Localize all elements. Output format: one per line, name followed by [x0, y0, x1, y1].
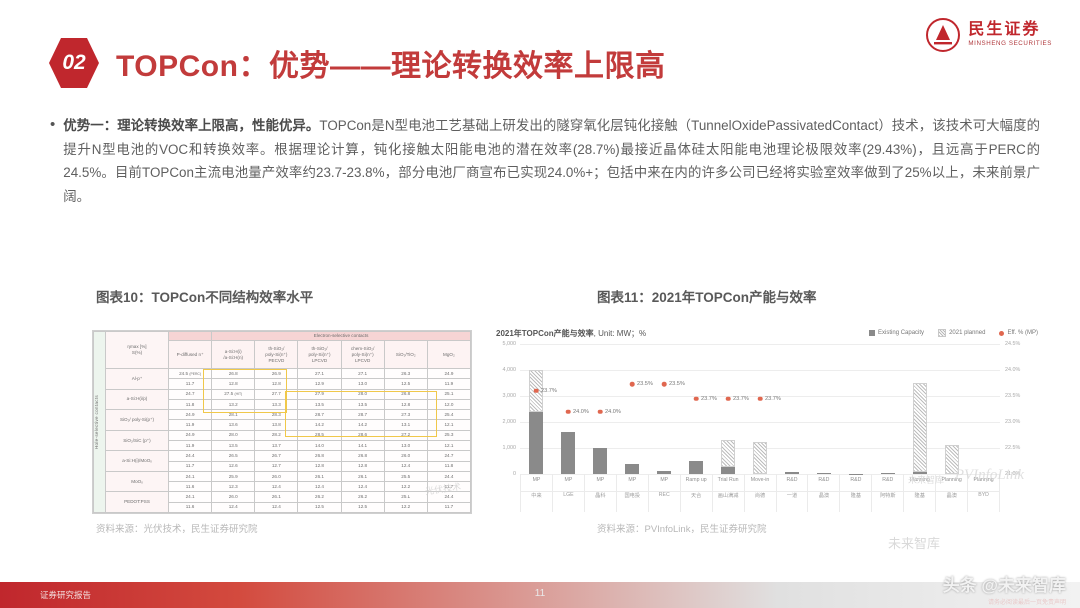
chart-ytick-right: 23.0%: [1005, 419, 1020, 425]
table-cell-s: 11.8: [169, 399, 212, 409]
table-cell-s: 12.8: [298, 461, 341, 471]
page-title: TOPCon：优势——理论转换效率上限高: [116, 41, 665, 85]
table-cell-s: 13.1: [384, 420, 427, 430]
table-cell-s: 11.7: [169, 379, 212, 389]
chart-x-company: 画山满减: [718, 492, 739, 499]
efficiency-table: Hole-selective contactsηmax [%]S(%)Elect…: [93, 331, 471, 513]
table-cell-s: 13.2: [212, 399, 255, 409]
table-cell-s: 11.8: [427, 461, 470, 471]
legend-label-eff: Eff. % (MP): [1007, 330, 1038, 336]
table-cell-eff: 28.0: [212, 430, 255, 440]
chart-eff-label: 23.5%: [669, 381, 685, 387]
table-cell-eff: 26.0: [384, 451, 427, 461]
chart-x-company: 中来: [531, 492, 541, 499]
table-cell-s: 14.2: [298, 420, 341, 430]
legend-swatch-existing-icon: [869, 330, 875, 336]
table-cell-s: 12.6: [212, 461, 255, 471]
table-cell-eff: 25.1: [427, 389, 470, 399]
table-cell-eff: 26.1: [341, 471, 384, 481]
table-cell-s: 12.0: [427, 399, 470, 409]
table-col-header: MgO₂: [427, 341, 470, 369]
table-cell-s: 12.8: [341, 461, 384, 471]
table-cell-eff: 26.9: [255, 369, 298, 379]
table-cell-eff: 27.1: [298, 369, 341, 379]
table-cell-eff: 25.L: [384, 492, 427, 502]
chart-x-status: R&D: [850, 477, 861, 483]
chart-eff-label: 23.7%: [765, 396, 781, 402]
chart-plot-area: 01,0002,0003,0004,0005,00021.0%22.5%23.0…: [520, 344, 1000, 474]
table-cell-eff: 24.7: [427, 451, 470, 461]
table-cell-eff: 28.7: [298, 410, 341, 420]
chart-eff-label: 24.0%: [573, 409, 589, 415]
table-cell-eff: 27.1: [341, 369, 384, 379]
table-cell-eff: 24.1: [169, 471, 212, 481]
table-cell-eff: 26.8: [212, 369, 255, 379]
table-cell-eff: 26.1: [298, 471, 341, 481]
chart-x-company: 隆基: [915, 492, 925, 499]
slide-page: 民生证券 MINSHENG SECURITIES 02 TOPCon：优势——理…: [0, 0, 1080, 608]
chart-x-category: Move-in尚德: [744, 474, 776, 512]
table-cell-s: 14.1: [341, 440, 384, 450]
chart-x-status: MP: [596, 477, 604, 483]
chart-eff-dot: [534, 389, 539, 394]
table-row: Al-p⁺24.5 (PERC)26.826.927.127.126.324.9: [94, 369, 471, 379]
chart-bar-existing: [529, 412, 542, 474]
legend-swatch-eff-icon: [999, 331, 1004, 336]
table-row: SiO₂/ poly-Si(p⁺)24.928.128.328.728.727.…: [94, 410, 471, 420]
chart-x-company: 隆基: [851, 492, 861, 499]
table-cell-s: 12.2: [384, 502, 427, 512]
chart-bar-planned: [753, 442, 766, 474]
table-cell-s: 12.4: [255, 502, 298, 512]
chart-x-status: Move-in: [751, 477, 769, 483]
table-row-label: a-Si:H(i/p): [106, 389, 169, 410]
legend-item-existing: Existing Capacity: [869, 330, 924, 336]
chart-x-company: 晶科: [595, 492, 605, 499]
legend-label-planned: 2021 planned: [949, 330, 985, 336]
chart-eff-dot: [566, 409, 571, 414]
figure11-watermark: PVInfoLink: [955, 467, 1024, 484]
legend-swatch-planned-icon: [938, 329, 946, 337]
chart-ytick: 1,000: [503, 445, 517, 451]
figure10-caption: 图表10：TOPCon不同结构效率水平: [96, 286, 313, 306]
table-cell-eff: 24.9: [169, 410, 212, 420]
chart-bar-planned: [721, 440, 734, 467]
chart-bar-planned: [913, 383, 926, 473]
legend-item-eff: Eff. % (MP): [999, 330, 1038, 336]
chart-unit-label: Unit: MW；%: [598, 329, 646, 338]
table-cell-s: 12.7: [255, 461, 298, 471]
table-cell-eff: 26.8: [341, 451, 384, 461]
table-cell-eff: 24.9: [427, 369, 470, 379]
table-col-header: th-SiO₂/poly-Si(n⁺)LPCVD: [298, 341, 341, 369]
table-cell-s: 12.2: [384, 482, 427, 492]
table-cell-s: 12.4: [212, 502, 255, 512]
chart-x-category: R&D隆基: [839, 474, 871, 512]
company-logo: 民生证券 MINSHENG SECURITIES: [926, 18, 1052, 52]
section-number-badge: 02: [48, 36, 100, 90]
chart-ytick: 0: [513, 471, 516, 477]
chart-x-company: 一道: [787, 492, 797, 499]
section-number: 02: [62, 51, 85, 75]
chart-bar-existing: [561, 432, 574, 474]
chart-eff-dot: [726, 396, 731, 401]
table-cell-eff: 26.1: [255, 492, 298, 502]
table-cell-s: 13.7: [255, 440, 298, 450]
body-paragraph: 优势一：理论转换效率上限高，性能优异。TOPCon是N型电池工艺基础上研发出的隧…: [63, 114, 1040, 208]
chart-x-status: MP: [628, 477, 636, 483]
table-cell-s: 12.1: [427, 440, 470, 450]
chart-x-company: 晶澳: [819, 492, 829, 499]
table-cell-eff: 24.5 (PERC): [169, 369, 212, 379]
footer-report-label: 证券研究报告: [40, 589, 91, 601]
table-cell-eff: 26.2: [298, 492, 341, 502]
table-row-label: PEDOT:PSS: [106, 492, 169, 513]
paragraph-lead: 优势一：理论转换效率上限高，性能优异。: [63, 118, 319, 133]
chart-x-status: R&D: [786, 477, 797, 483]
table-cell-s: 12.1: [427, 420, 470, 430]
table-cell-eff: 24.4: [169, 451, 212, 461]
logo-text-cn: 民生证券: [968, 22, 1052, 38]
table-cell-s: 11.7: [169, 461, 212, 471]
body-bullet: • 优势一：理论转换效率上限高，性能优异。TOPCon是N型电池工艺基础上研发出…: [50, 114, 1040, 208]
table-cell-eff: 28.5: [298, 430, 341, 440]
table-cell-eff: 24.7: [169, 389, 212, 399]
table-col-header: chem-SiO₂/poly-Si(n⁺)LPCVD: [341, 341, 384, 369]
chart-x-company: 天合: [691, 492, 701, 499]
table-row-label: Al-p⁺: [106, 369, 169, 390]
page-footer: 证券研究报告 11: [0, 582, 1080, 608]
table-cell-s: 12.8: [212, 379, 255, 389]
table-cell-s: 12.5: [298, 502, 341, 512]
chart-x-status: Trial Run: [718, 477, 739, 483]
table-cell-eff: 27.9: [298, 389, 341, 399]
table-col-header: a-Si:H(i)/a-Si:H(n): [212, 341, 255, 369]
chart-x-category: MP中来: [520, 474, 552, 512]
table-cell-s: 12.4: [298, 482, 341, 492]
table-cell-s: 14.2: [341, 420, 384, 430]
chart-x-category: MP国电投: [616, 474, 648, 512]
table-cell-eff: 26.3: [384, 369, 427, 379]
toutiao-title: 头条 @未来智库: [943, 571, 1066, 596]
table-band-header: [169, 332, 212, 341]
table-col-header: th-SiO₂/poly-Si(n⁺)PECVD: [255, 341, 298, 369]
table-row-label: MoOₓ: [106, 471, 169, 492]
logo-text-en: MINSHENG SECURITIES: [968, 41, 1052, 47]
chart-eff-dot: [694, 396, 699, 401]
table-cell-s: 12.9: [298, 379, 341, 389]
chart-x-status: MP: [660, 477, 668, 483]
chart-x-company: 国电投: [624, 492, 640, 499]
chart-title-text: 2021年TOPCon产能与效率: [496, 329, 594, 338]
chart-x-status: MP: [565, 477, 573, 483]
table-cell-eff: 28.1: [212, 410, 255, 420]
table-cell-s: 12.4: [384, 461, 427, 471]
chart-eff-label: 23.5%: [637, 381, 653, 387]
chart-x-category: MPREC: [648, 474, 680, 512]
table-cell-eff: 27.7: [255, 389, 298, 399]
table-cell-s: 11.7: [427, 502, 470, 512]
chart-bar-existing: [721, 467, 734, 474]
chart-title: 2021年TOPCon产能与效率, Unit: MW；%: [496, 328, 646, 339]
table-cell-s: 13.3: [255, 399, 298, 409]
chart-x-category: R&D晶澳: [807, 474, 839, 512]
chart-x-company: 尚德: [755, 492, 765, 499]
chart-x-status: MP: [533, 477, 541, 483]
table-cell-s: 12.8: [255, 379, 298, 389]
table-cell-s: 13.6: [212, 420, 255, 430]
chart-eff-label: 24.0%: [605, 409, 621, 415]
chart-eff-dot: [662, 382, 667, 387]
chart-eff-label: 23.7%: [541, 388, 557, 394]
table-row: PEDOT:PSS24.126.026.126.226.225.L24.4: [94, 492, 471, 502]
chart-x-company: BYD: [978, 492, 989, 498]
table-row: MoOₓ24.125.926.026.126.125.524.4: [94, 471, 471, 481]
table-cell-eff: 26.7: [255, 451, 298, 461]
table-cell-eff: 26.2: [341, 492, 384, 502]
chart-ytick: 4,000: [503, 367, 517, 373]
table-row-label: a-Si:H(i)/MoOₓ: [106, 451, 169, 472]
legend-label-existing: Existing Capacity: [878, 330, 924, 336]
table-cell-eff: 25.4: [427, 410, 470, 420]
table-cell-eff: 28.2: [255, 430, 298, 440]
table-cell-s: 11.9: [427, 379, 470, 389]
chart-legend: Existing Capacity 2021 planned Eff. % (M…: [869, 329, 1038, 337]
table-cell-eff: 27.5 (HIT): [212, 389, 255, 399]
table-cell-s: 12.5: [341, 502, 384, 512]
chart-eff-dot: [758, 396, 763, 401]
table-cell-eff: 26.0: [212, 492, 255, 502]
page-watermark: 未来智库: [888, 533, 940, 552]
chart-ytick-right: 24.0%: [1005, 367, 1020, 373]
table-cell-s: 11.9: [169, 420, 212, 430]
table-cell-eff: 24.9: [169, 430, 212, 440]
toutiao-watermark: 头条 @未来智库 请务必阅读最后一页免责声明: [943, 571, 1066, 606]
table-row: a-Si:H(i)/MoOₓ24.426.526.726.826.826.024…: [94, 451, 471, 461]
table-row-label: SiO₂/SiC (p⁺): [106, 430, 169, 451]
table-band-header-label: Electron-selective contacts: [212, 332, 471, 341]
table-cell-s: 12.4: [255, 482, 298, 492]
figure10-table-image: Hole-selective contactsηmax [%]S(%)Elect…: [92, 330, 472, 514]
chart-bar-existing: [689, 461, 702, 474]
table-cell-eff: 26.0: [255, 471, 298, 481]
table-cell-s: 13.5: [341, 399, 384, 409]
chart-bar-existing: [593, 448, 606, 474]
table-row: a-Si:H(i/p)24.727.5 (HIT)27.727.928.026.…: [94, 389, 471, 399]
chart-x-company: 阿特斯: [880, 492, 896, 499]
table-cell-eff: 25.9: [212, 471, 255, 481]
chart-ytick: 2,000: [503, 419, 517, 425]
chart-ytick-right: 23.5%: [1005, 393, 1020, 399]
figure11-caption: 图表11：2021年TOPCon产能与效率: [597, 286, 817, 306]
chart-x-status: Ramp up: [686, 477, 707, 483]
table-cell-eff: 27.2: [384, 430, 427, 440]
table-cell-s: 13.5: [298, 399, 341, 409]
table-cell-eff: 26.8: [384, 389, 427, 399]
page-watermark-text: 未来智库: [888, 536, 940, 551]
table-cell-eff: 25.3: [427, 430, 470, 440]
table-cell-eff: 25.5: [384, 471, 427, 481]
chart-ytick: 5,000: [503, 341, 517, 347]
table-cell-eff: 28.3: [255, 410, 298, 420]
table-cell-s: 13.8: [255, 420, 298, 430]
chart-eff-label: 23.7%: [733, 396, 749, 402]
table-cell-s: 13.0: [384, 440, 427, 450]
table-cell-s: 12.4: [341, 482, 384, 492]
table-side-label: Hole-selective contacts: [94, 332, 106, 513]
chart-x-category: MPLGE: [552, 474, 584, 512]
table-cell-eff: 24.1: [169, 492, 212, 502]
table-cell-s: 13.5: [212, 440, 255, 450]
chart-x-category: MP晶科: [584, 474, 616, 512]
bullet-marker: •: [50, 114, 55, 208]
legend-item-planned: 2021 planned: [938, 329, 985, 337]
table-cell-eff: 28.7: [341, 410, 384, 420]
chart-x-company: 晶澳: [946, 492, 956, 499]
table-cell-eff: 28.6: [341, 430, 384, 440]
table-col-header: SiO₂/TiO₂: [384, 341, 427, 369]
chart-x-category: Trial Run画山满减: [712, 474, 744, 512]
table-cell-s: 13.0: [341, 379, 384, 389]
table-cell-eff: 27.3: [384, 410, 427, 420]
chart-x-status: R&D: [818, 477, 829, 483]
table-cell-s: 12.8: [384, 399, 427, 409]
table-corner-cell: ηmax [%]S(%): [106, 332, 169, 369]
chart-x-category: Ramp up天合: [680, 474, 712, 512]
table-cell-s: 11.6: [169, 482, 212, 492]
figure11-chart-image: 2021年TOPCon产能与效率, Unit: MW；% Existing Ca…: [492, 328, 1042, 512]
chart-bar-existing: [625, 464, 638, 474]
chart-eff-dot: [630, 382, 635, 387]
footer-page-number: 11: [535, 588, 545, 599]
chart-eff-label: 23.7%: [701, 396, 717, 402]
figure11-watermark-secondary: 未来智库: [908, 473, 944, 486]
chart-eff-dot: [598, 409, 603, 414]
chart-ytick-right: 24.5%: [1005, 341, 1020, 347]
table-cell-eff: 26.8: [298, 451, 341, 461]
table-cell-s: 11.6: [169, 502, 212, 512]
chart-x-category: R&D阿特斯: [871, 474, 903, 512]
chart-ytick: 3,000: [503, 393, 517, 399]
table-cell-s: 11.9: [169, 440, 212, 450]
table-cell-s: 12.3: [212, 482, 255, 492]
page-title-row: 02 TOPCon：优势——理论转换效率上限高: [48, 36, 665, 90]
minsheng-logo-icon: [926, 18, 960, 52]
table-row-label: SiO₂/ poly-Si(p⁺): [106, 410, 169, 431]
table-cell-s: 14.0: [298, 440, 341, 450]
chart-x-company: REC: [659, 492, 670, 498]
chart-ytick-right: 22.5%: [1005, 445, 1020, 451]
figure10-source: 资料来源：光伏技术，民生证券研究院: [96, 521, 258, 535]
table-cell-eff: 26.5: [212, 451, 255, 461]
table-band-row: Hole-selective contactsηmax [%]S(%)Elect…: [94, 332, 471, 341]
chart-x-company: LGE: [563, 492, 573, 498]
table-cell-s: 12.5: [384, 379, 427, 389]
table-col-header: P-diffused n⁺: [169, 341, 212, 369]
table-cell-eff: 28.0: [341, 389, 384, 399]
chart-x-category: R&D一道: [776, 474, 808, 512]
toutiao-disclaimer: 请务必阅读最后一页免责声明: [943, 597, 1066, 606]
chart-x-status: R&D: [882, 477, 893, 483]
table-row: SiO₂/SiC (p⁺)24.928.028.228.528.627.225.…: [94, 430, 471, 440]
figure11-source: 资料来源：PVInfoLink，民生证券研究院: [597, 521, 766, 535]
